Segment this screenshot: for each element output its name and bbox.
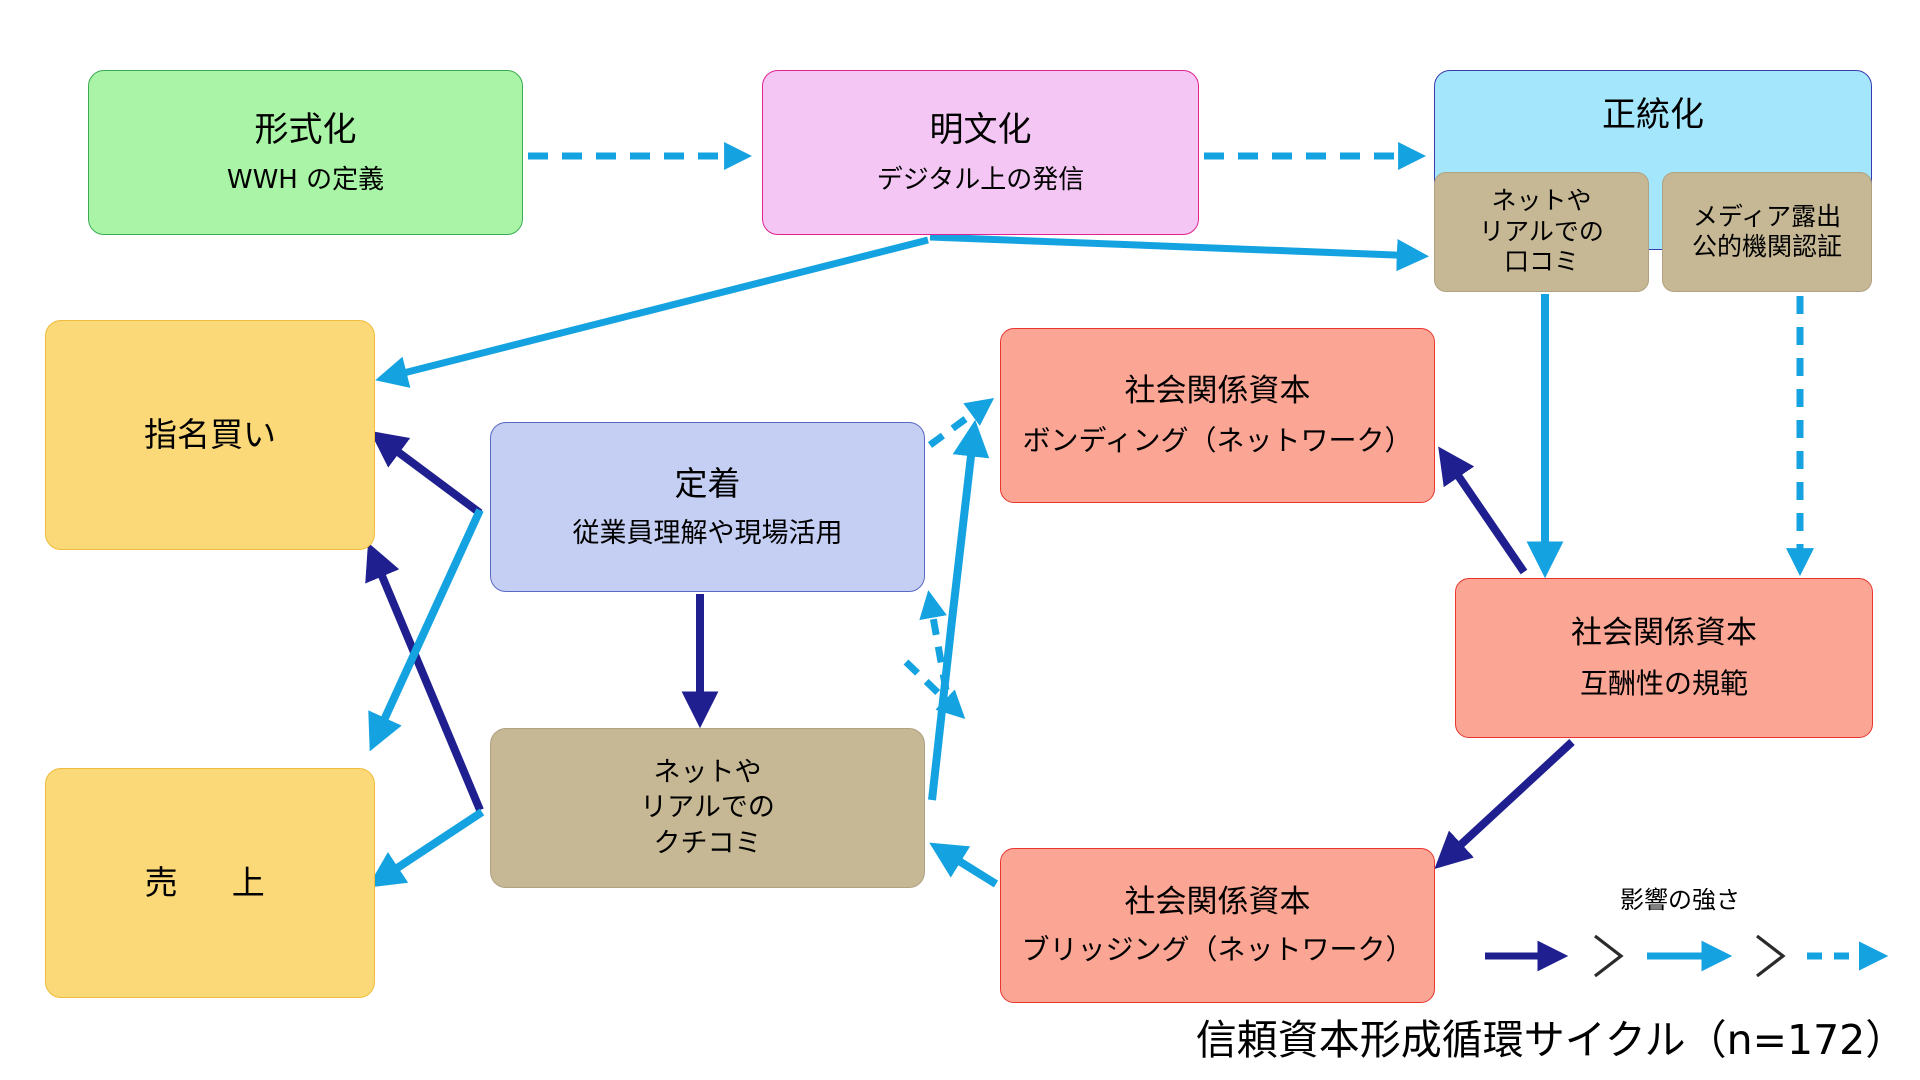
edge-codification-to-wom-sub bbox=[930, 237, 1420, 256]
wom-sub-line-3: 口コミ bbox=[1504, 247, 1579, 278]
media-sub-line-1: メディア露出 bbox=[1693, 202, 1841, 233]
node-social-capital-reciprocity[interactable]: 社会関係資本 互酬性の規範 bbox=[1455, 578, 1873, 738]
node-word-of-mouth-line-3: クチコミ bbox=[654, 826, 762, 862]
node-codification-title: 明文化 bbox=[930, 108, 1032, 153]
legend-chevron-icon-1 bbox=[1595, 936, 1621, 976]
legend: 影響の強さ bbox=[1455, 880, 1905, 1000]
edge-bridging-to-word-of-mouth bbox=[938, 848, 996, 884]
node-embedding[interactable]: 定着 従業員理解や現場活用 bbox=[490, 422, 925, 592]
edge-word-of-mouth-to-sales bbox=[376, 812, 482, 882]
node-social-capital-bridging-subtitle: ブリッジング（ネットワーク） bbox=[1021, 932, 1413, 969]
node-formalization-subtitle: WWH の定義 bbox=[227, 163, 384, 197]
node-social-capital-bridging[interactable]: 社会関係資本 ブリッジング（ネットワーク） bbox=[1000, 848, 1435, 1003]
edge-word-of-mouth-to-designated-purchase bbox=[372, 552, 480, 810]
edge-embedding-to-designated-purchase bbox=[378, 437, 480, 513]
node-designated-purchase[interactable]: 指名買い bbox=[45, 320, 375, 550]
node-social-capital-bonding[interactable]: 社会関係資本 ボンディング（ネットワーク） bbox=[1000, 328, 1435, 503]
node-sales[interactable]: 売 上 bbox=[45, 768, 375, 998]
diagram-caption: 信頼資本形成循環サイクル（n=172） bbox=[1195, 1006, 1907, 1066]
diagram-canvas: 形式化 WWH の定義 明文化 デジタル上の発信 正統化 ネットや リアルでの … bbox=[0, 0, 1920, 1080]
node-sales-title: 売 上 bbox=[145, 861, 276, 905]
edge-reciprocity-to-bridging bbox=[1442, 742, 1572, 862]
node-codification-subtitle: デジタル上の発信 bbox=[877, 163, 1084, 197]
node-legitimation-title: 正統化 bbox=[1602, 93, 1704, 138]
node-social-capital-bonding-title: 社会関係資本 bbox=[1125, 371, 1311, 412]
node-codification[interactable]: 明文化 デジタル上の発信 bbox=[762, 70, 1199, 235]
node-social-capital-bonding-subtitle: ボンディング（ネットワーク） bbox=[1022, 423, 1412, 460]
edge-codification-to-designated-purchase bbox=[384, 240, 928, 378]
wom-sub-line-2: リアルでの bbox=[1479, 217, 1604, 248]
node-word-of-mouth-line-1: ネットや bbox=[654, 755, 762, 791]
media-sub-line-2: 公的機関認証 bbox=[1692, 232, 1842, 263]
legend-chevron-icon-2 bbox=[1757, 936, 1783, 976]
edge-reciprocity-to-bonding bbox=[1444, 455, 1524, 572]
edge-bridging-to-mid-dashed bbox=[930, 600, 946, 690]
node-social-capital-reciprocity-title: 社会関係資本 bbox=[1571, 613, 1757, 654]
edge-word-of-mouth-to-bonding bbox=[932, 430, 974, 800]
node-social-capital-reciprocity-subtitle: 互酬性の規範 bbox=[1580, 666, 1748, 703]
node-legitimation-wom-sub[interactable]: ネットや リアルでの 口コミ bbox=[1434, 172, 1649, 292]
node-legitimation-media-sub[interactable]: メディア露出 公的機関認証 bbox=[1662, 172, 1872, 292]
node-word-of-mouth-line-2: リアルでの bbox=[640, 790, 775, 826]
node-embedding-subtitle: 従業員理解や現場活用 bbox=[573, 516, 843, 552]
node-social-capital-bridging-title: 社会関係資本 bbox=[1125, 882, 1311, 923]
edge-mid-to-bridging-dashed bbox=[906, 662, 958, 712]
node-formalization[interactable]: 形式化 WWH の定義 bbox=[88, 70, 523, 235]
legend-arrows bbox=[1455, 914, 1905, 994]
wom-sub-line-1: ネットや bbox=[1491, 186, 1591, 217]
node-formalization-title: 形式化 bbox=[255, 108, 357, 153]
legend-title: 影響の強さ bbox=[1455, 880, 1905, 915]
node-word-of-mouth[interactable]: ネットや リアルでの クチコミ bbox=[490, 728, 925, 888]
edge-embedding-to-sales bbox=[374, 510, 480, 742]
node-designated-purchase-title: 指名買い bbox=[144, 413, 276, 457]
edge-bonding-dashed-inbound bbox=[930, 404, 986, 445]
node-embedding-title: 定着 bbox=[675, 462, 741, 506]
